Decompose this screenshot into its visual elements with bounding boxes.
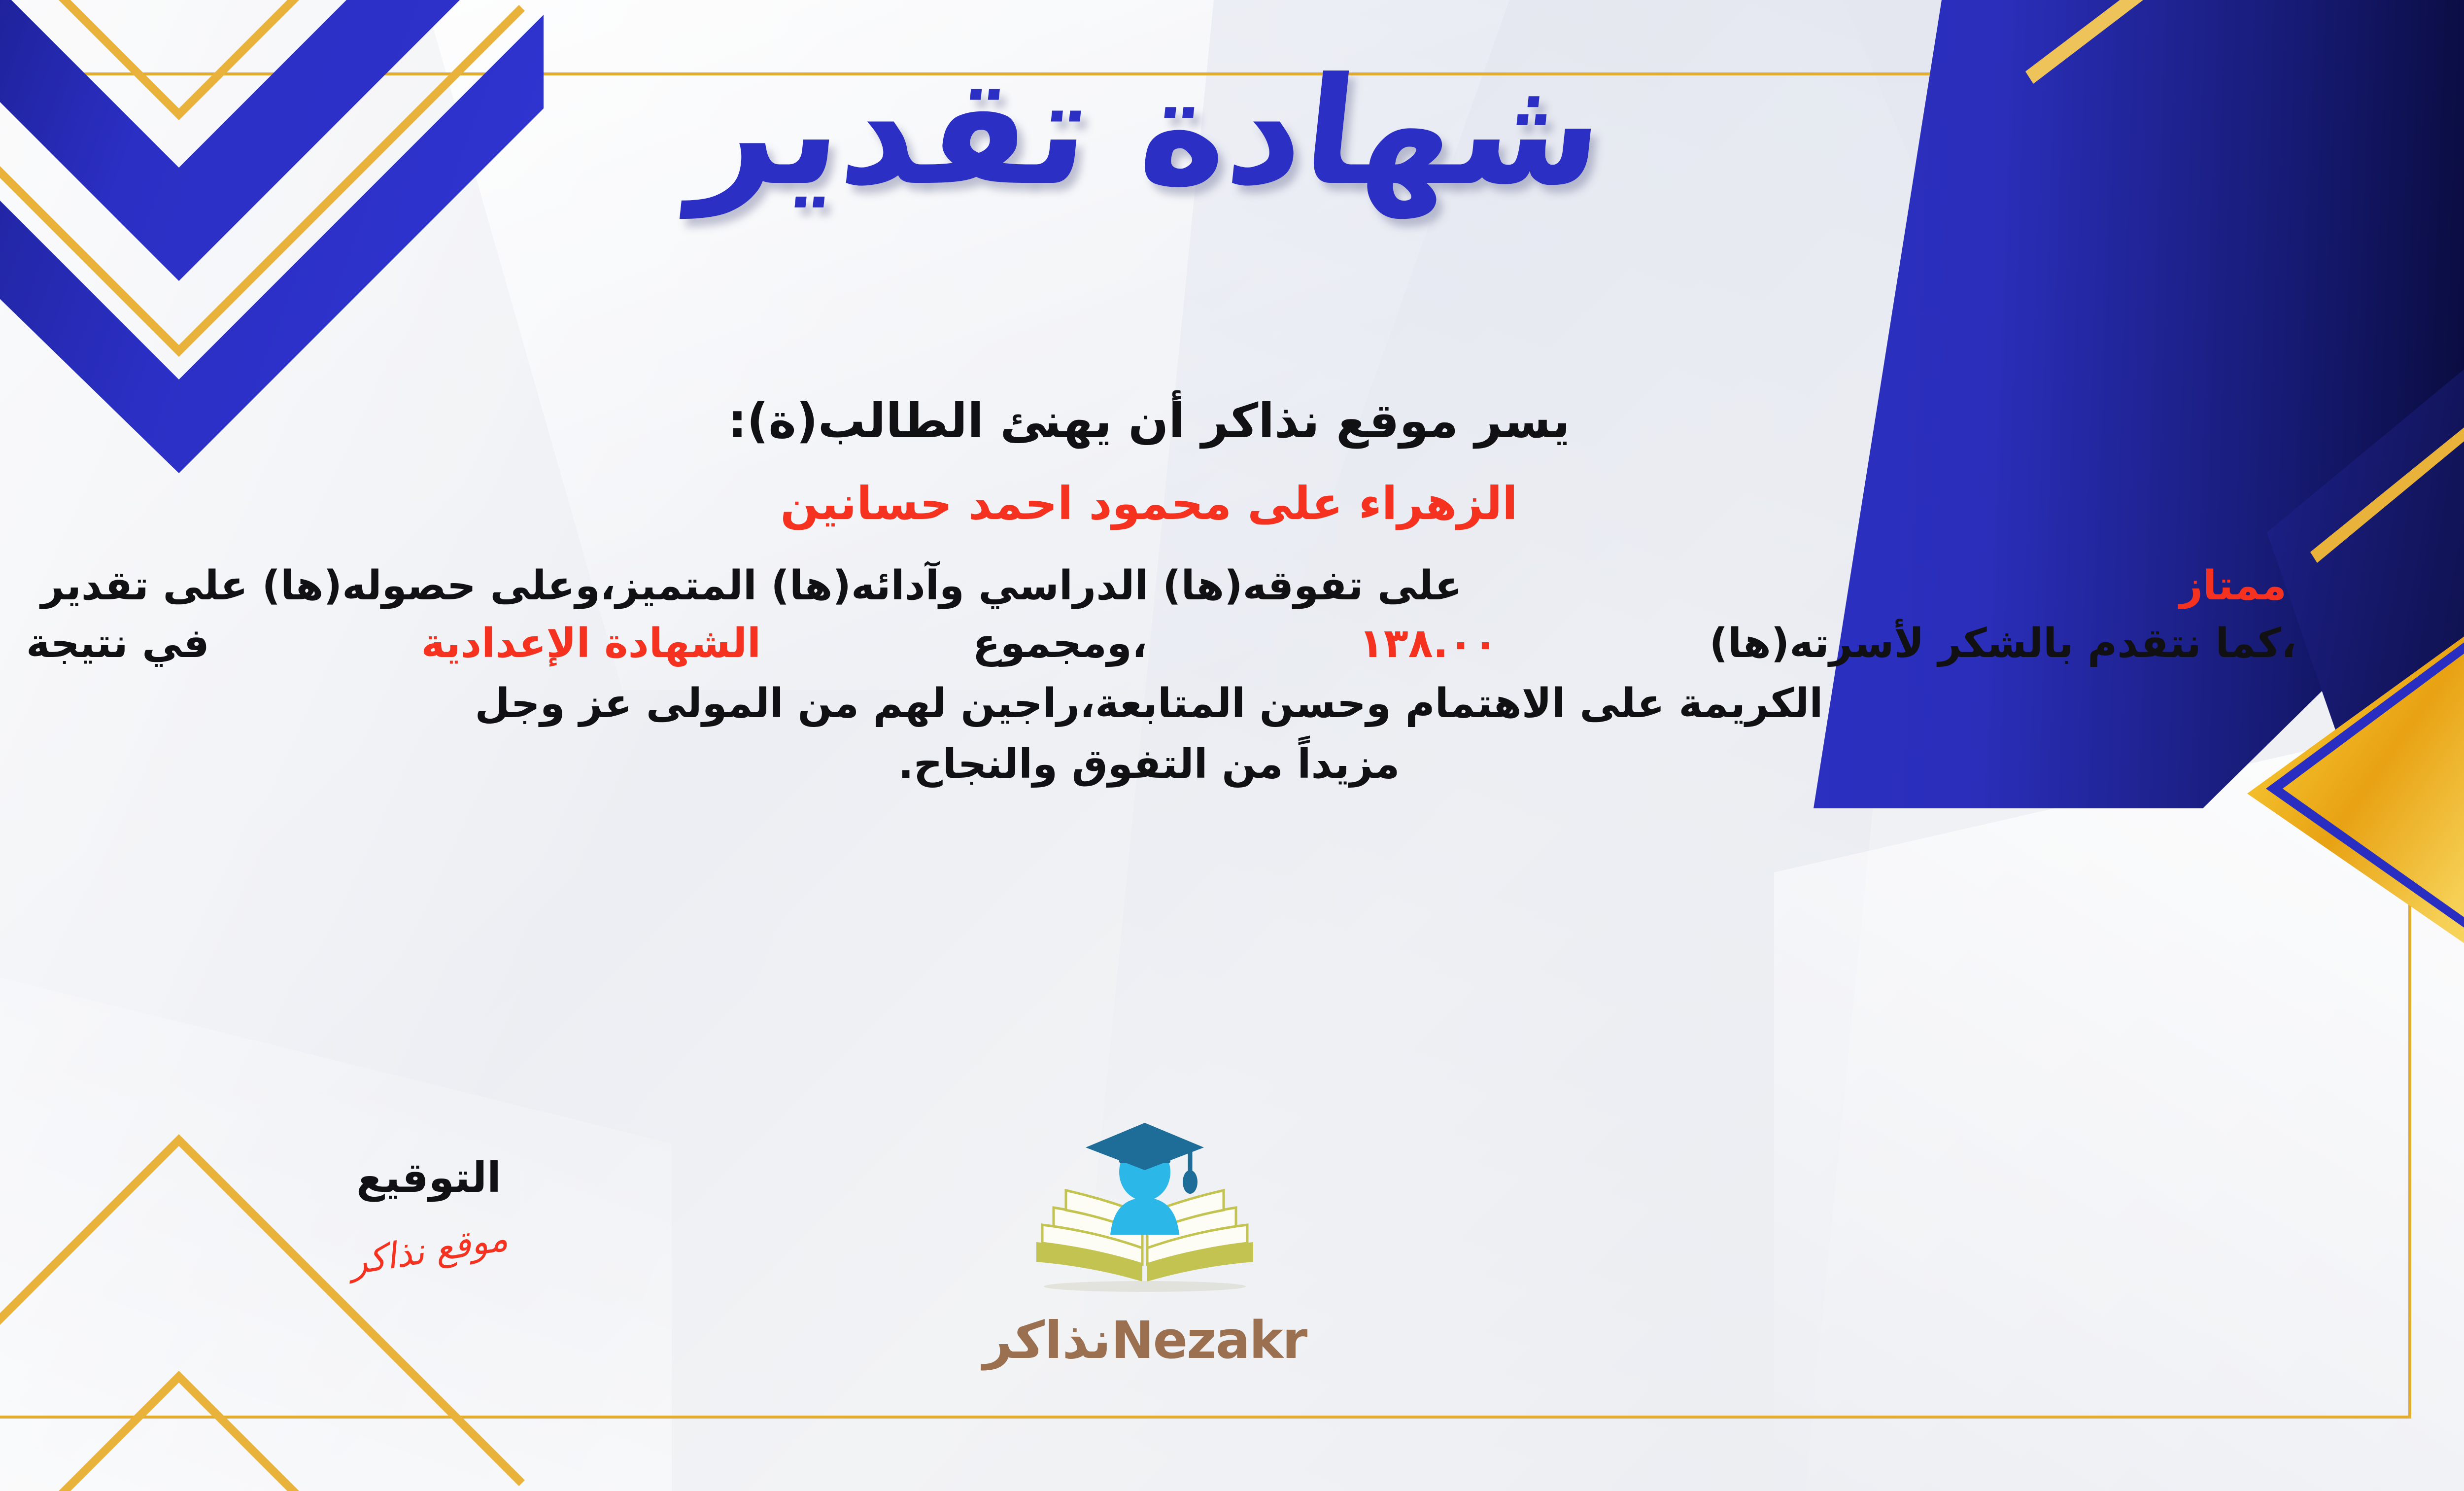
student-name: الزهراء على محمود احمد حسانين (0, 474, 2301, 533)
total-score-label: ،ومجموع (973, 615, 1147, 672)
student-body (1110, 1198, 1179, 1235)
achievement-text: على تفوقه(ها) الدراسي وآدائه(ها) المتميز… (41, 557, 1462, 615)
signature-mark: موقع نذاكر (347, 1217, 511, 1283)
logo-wordmark: Nezakrنذاكر (953, 1310, 1337, 1370)
certificate-body: يسر موقع نذاكر أن يهنئ الطالب(ة): الزهرا… (0, 389, 2301, 793)
result-prefix: في نتيجة (26, 615, 209, 672)
achievement-line-4: مزيداً من التفوق والنجاح. (0, 736, 2301, 793)
achievement-line-1: ممتاز على تفوقه(ها) الدراسي وآدائه(ها) ا… (0, 557, 2301, 615)
background-facet (1774, 715, 2464, 1491)
total-score-value: ١٣٨.٠٠ (1359, 615, 1498, 672)
signature-label: التوقيع (246, 1153, 611, 1202)
certificate-title: شهادة تقدير (685, 39, 1613, 224)
achievement-line-2: ،كما نتقدم بالشكر لأسرته(ها) ١٣٨.٠٠ ،ومج… (0, 615, 2301, 672)
certificate-canvas: شهادة تقدير يسر موقع نذاكر أن يهنئ الطال… (0, 0, 2464, 1491)
certificate-title-container: شهادة تقدير (0, 39, 2464, 224)
signature-block: التوقيع موقع نذاكر (246, 1153, 611, 1271)
family-thanks-text: ،كما نتقدم بالشكر لأسرته(ها) (1710, 615, 2296, 672)
site-logo: Nezakrنذاكر (953, 1119, 1337, 1370)
exam-name: الشهادة الإعدادية (421, 615, 761, 672)
greeting-line: يسر موقع نذاكر أن يهنئ الطالب(ة): (0, 389, 2301, 453)
grade-value: ممتاز (2180, 557, 2287, 615)
achievement-line-3: الكريمة على الاهتمام وحسن المتابعة،راجين… (0, 675, 2301, 732)
graduate-book-icon (1007, 1119, 1283, 1306)
